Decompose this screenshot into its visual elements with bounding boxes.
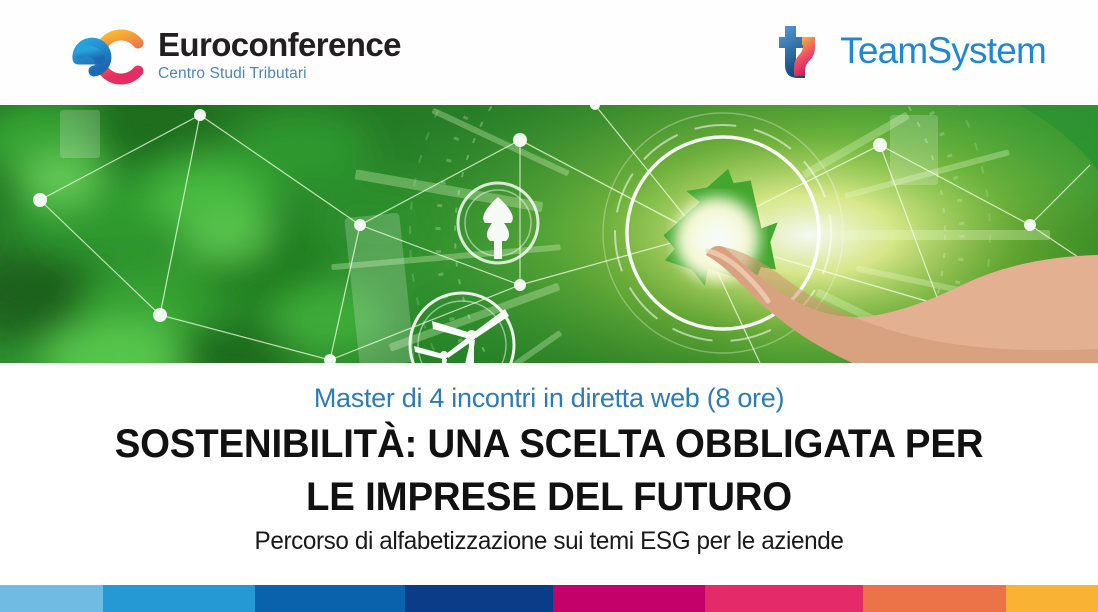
footer-segment-magenta (553, 585, 705, 612)
euroconference-tagline: Centro Studi Tributari (158, 64, 401, 83)
euroconference-name: Euroconference (158, 27, 401, 63)
euroconference-ec-monogram-icon (60, 29, 146, 85)
header-bar: Euroconference Centro Studi Tributari (0, 0, 1098, 105)
course-title-line2: LE IMPRESE DEL FUTURO (22, 474, 1076, 520)
hero-image (0, 105, 1098, 363)
course-text-block: Master di 4 incontri in diretta web (8 o… (0, 363, 1098, 585)
course-subtitle: Percorso di alfabetizzazione sui temi ES… (16, 526, 1081, 556)
footer-segment-orange (863, 585, 1006, 612)
footer-segment-sky-blue (103, 585, 255, 612)
footer-segment-pink (705, 585, 863, 612)
promotional-banner: Euroconference Centro Studi Tributari (0, 0, 1098, 612)
hero-illustration (0, 105, 1098, 363)
euroconference-logo[interactable]: Euroconference Centro Studi Tributari (60, 27, 401, 85)
teamsystem-name: TeamSystem (840, 31, 1046, 71)
footer-segment-yellow (1006, 585, 1098, 612)
footer-color-bar (0, 585, 1098, 612)
teamsystem-ts-monogram-icon (771, 24, 827, 78)
footer-segment-navy-blue (405, 585, 553, 612)
footer-segment-medium-blue (255, 585, 405, 612)
euroconference-wordmark: Euroconference Centro Studi Tributari (158, 27, 401, 83)
course-title-line1: SOSTENIBILITÀ: UNA SCELTA OBBLIGATA PER (22, 421, 1076, 467)
course-format-kicker: Master di 4 incontri in diretta web (8 o… (0, 382, 1098, 414)
teamsystem-logo[interactable]: TeamSystem (771, 24, 1046, 78)
footer-segment-light-blue (0, 585, 103, 612)
